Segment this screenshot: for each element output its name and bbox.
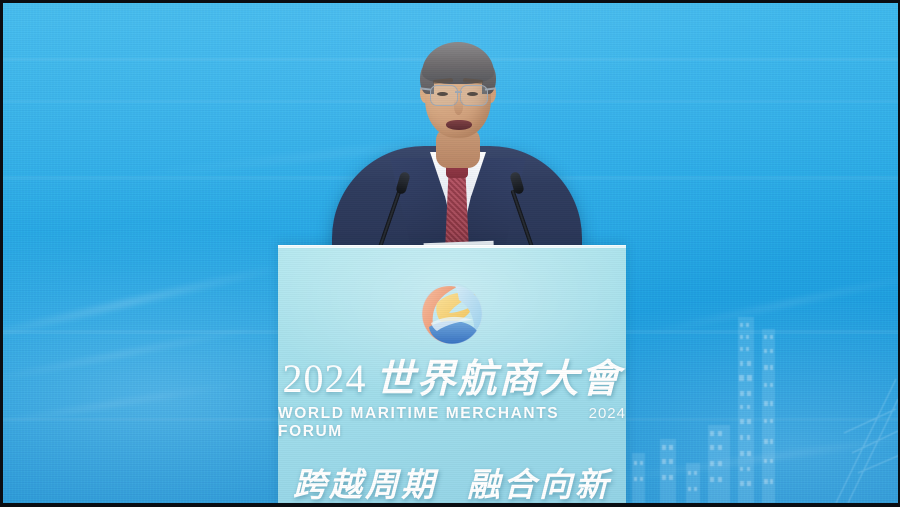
photo-stage: 2024 世界航商大會 WORLD MARITIME MERCHANTS FOR… xyxy=(0,0,900,507)
eyeglasses-lens-right xyxy=(460,85,488,106)
nose xyxy=(454,99,463,115)
podium-panel: 2024 世界航商大會 WORLD MARITIME MERCHANTS FOR… xyxy=(278,245,626,507)
subheadline-year: 2024 xyxy=(589,405,626,422)
forum-headline: 2024 世界航商大會 xyxy=(282,359,621,399)
forum-slogan-chinese: 跨越周期 融合向新 xyxy=(293,468,611,501)
frame-bar-top xyxy=(0,0,900,3)
headline-year: 2024 xyxy=(282,359,366,399)
speaker-figure xyxy=(332,36,582,266)
headline-chinese: 世界航商大會 xyxy=(375,360,621,399)
slogan-chinese-left: 跨越周期 xyxy=(293,468,437,501)
forum-subheadline: WORLD MARITIME MERCHANTS FORUM 2024 xyxy=(278,405,626,441)
subheadline-english: WORLD MARITIME MERCHANTS FORUM xyxy=(278,405,582,441)
mouth xyxy=(446,120,472,130)
frame-bar-bottom xyxy=(0,503,900,507)
slogan-chinese-right: 融合向新 xyxy=(467,468,611,501)
eyeglasses-bridge xyxy=(455,91,462,93)
skyline-motif-icon xyxy=(600,313,900,503)
podium-top-edge-highlight xyxy=(278,245,626,248)
frame-bar-left xyxy=(0,0,3,507)
hair xyxy=(422,42,494,84)
forum-globe-logo-icon xyxy=(415,279,489,349)
